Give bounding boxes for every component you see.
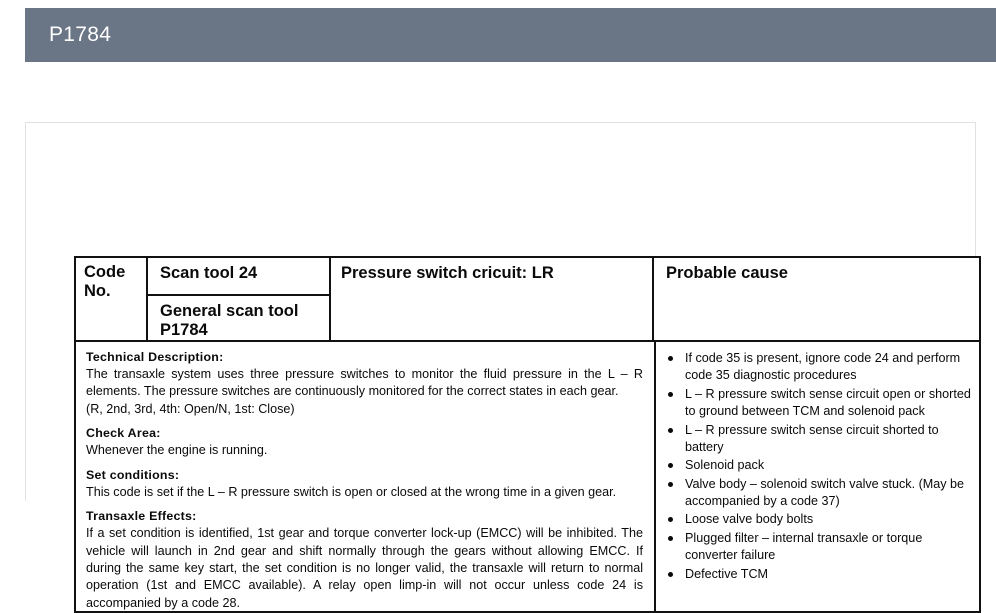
list-item-text: Loose valve body bolts [685,512,813,526]
column-header-scan-tool-group: Scan tool 24 General scan tool P1784 [148,258,331,340]
column-header-code-no-line2: No. [84,282,146,301]
set-conditions-body: This code is set if the L – R pressure s… [86,484,643,501]
table-header-row: Code No. Scan tool 24 General scan tool … [76,258,979,342]
general-scan-tool-code: P1784 [160,321,329,340]
probable-cause-list: If code 35 is present, ignore code 24 an… [664,350,971,583]
page-title: P1784 [49,23,111,47]
bullet-icon [668,572,673,577]
column-header-probable-cause: Probable cause [654,258,979,340]
bullet-icon [668,482,673,487]
list-item-text: Plugged filter – internal transaxle or t… [685,531,922,562]
set-conditions-heading: Set conditions: [86,467,643,484]
list-item: L – R pressure switch sense circuit shor… [664,422,971,457]
list-item-text: L – R pressure switch sense circuit shor… [685,423,939,454]
column-header-scan-tool-24: Scan tool 24 [148,258,329,296]
list-item: Solenoid pack [664,457,971,474]
list-item-text: Defective TCM [685,567,768,581]
check-area-heading: Check Area: [86,425,643,442]
bullet-icon [668,356,673,361]
list-item-text: If code 35 is present, ignore code 24 an… [685,351,960,382]
column-header-code-no-line1: Code [84,263,146,282]
column-header-code-no: Code No. [76,258,148,340]
bullet-icon [668,536,673,541]
probable-cause-cell: If code 35 is present, ignore code 24 an… [656,342,979,613]
list-item-text: Valve body – solenoid switch valve stuck… [685,477,964,508]
column-header-general-scan-tool: General scan tool P1784 [148,296,329,340]
list-item: Valve body – solenoid switch valve stuck… [664,476,971,511]
bullet-icon [668,517,673,522]
diagnostic-code-table: Code No. Scan tool 24 General scan tool … [74,256,981,613]
transaxle-effects-heading: Transaxle Effects: [86,508,643,525]
list-item: Defective TCM [664,566,971,583]
technical-description-heading: Technical Description: [86,349,643,366]
transaxle-effects-body: If a set condition is identified, 1st ge… [86,525,643,612]
bullet-icon [668,428,673,433]
general-scan-tool-label: General scan tool [160,302,329,321]
bullet-icon [668,463,673,468]
technical-description-body: The transaxle system uses three pressure… [86,366,643,401]
list-item: L – R pressure switch sense circuit open… [664,386,971,421]
list-item: If code 35 is present, ignore code 24 an… [664,350,971,385]
table-body-row: Technical Description: The transaxle sys… [76,342,979,613]
technical-description-note: (R, 2nd, 3rd, 4th: Open/N, 1st: Close) [86,401,643,418]
column-header-circuit: Pressure switch cricuit: LR [331,258,654,340]
list-item: Plugged filter – internal transaxle or t… [664,530,971,565]
list-item: Loose valve body bolts [664,511,971,528]
document-frame: Code No. Scan tool 24 General scan tool … [25,122,976,501]
technical-description-cell: Technical Description: The transaxle sys… [76,342,656,613]
list-item-text: Solenoid pack [685,458,764,472]
page-header-bar: P1784 [25,8,996,62]
check-area-body: Whenever the engine is running. [86,442,643,459]
bullet-icon [668,392,673,397]
list-item-text: L – R pressure switch sense circuit open… [685,387,971,418]
